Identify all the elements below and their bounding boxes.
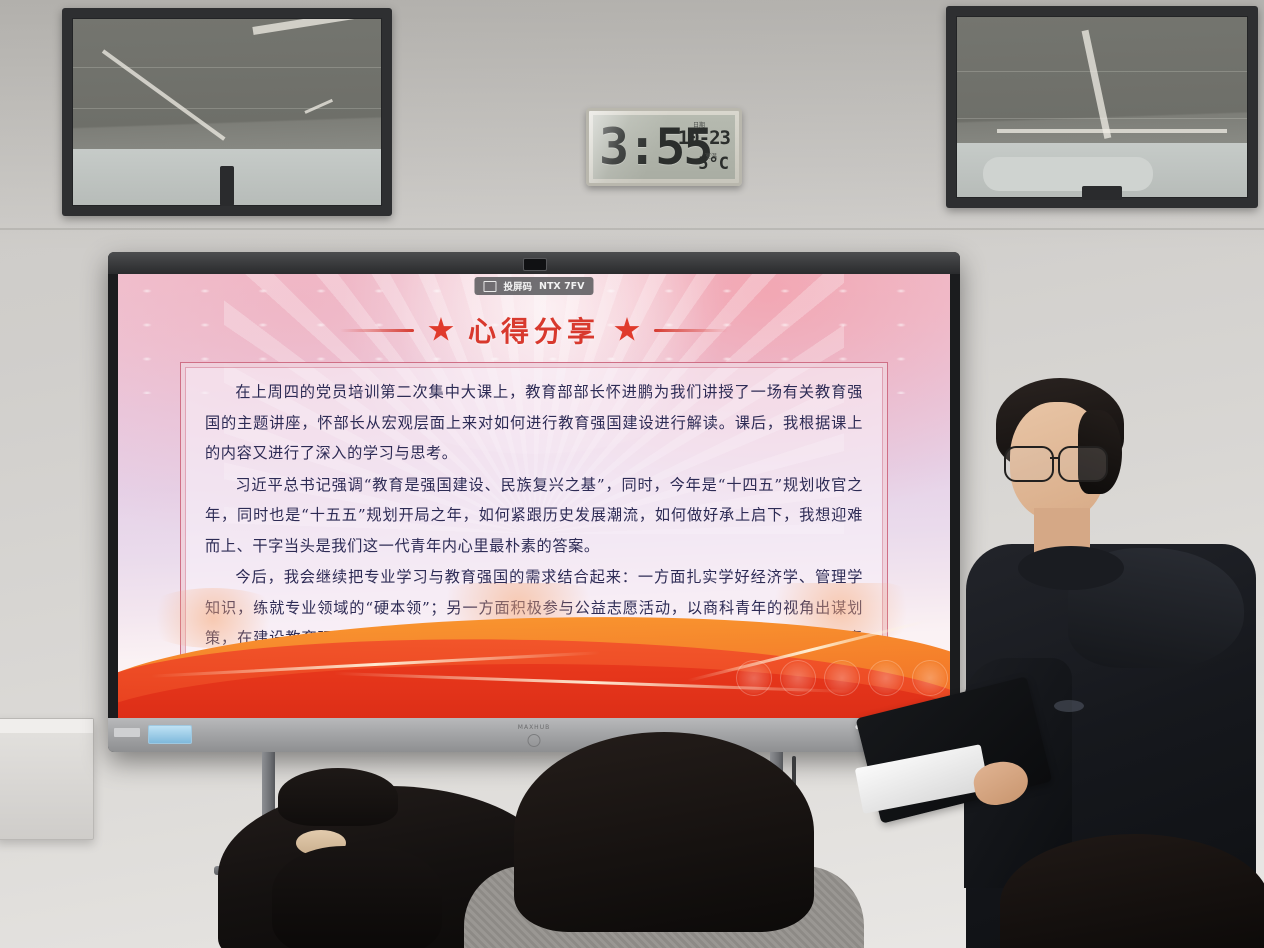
audience-member-right	[1000, 828, 1264, 948]
classroom-presentation-scene: 3:55 日期 10-23 室温 5°C 投屏码 NTX 7FV	[0, 0, 1264, 948]
screen-cast-overlay: 投屏码 NTX 7FV	[474, 277, 593, 295]
slide: 投屏码 NTX 7FV 心得分享 在上周四的党员培训第二次集中大课上，教育部部长…	[118, 274, 950, 718]
window-left-handle[interactable]	[220, 166, 234, 206]
display-brand: MAXHUB	[518, 724, 550, 731]
presenter-collar	[1018, 546, 1124, 590]
display-top-bezel	[108, 252, 960, 274]
clock-lcd: 3:55 日期 10-23 室温 5°C	[593, 115, 735, 179]
audience-member-center	[494, 738, 824, 948]
wall-clock: 3:55 日期 10-23 室温 5°C	[586, 108, 742, 186]
display-screen[interactable]: 投屏码 NTX 7FV 心得分享 在上周四的党员培训第二次集中大课上，教育部部长…	[118, 274, 950, 718]
bezel-sticker	[148, 725, 192, 744]
hoodie-logo	[1054, 700, 1084, 712]
screen-cast-code: NTX 7FV	[539, 281, 585, 292]
clock-date: 10-23	[678, 127, 730, 149]
slide-paragraph: 在上周四的党员培训第二次集中大课上，教育部部长怀进鹏为我们讲授了一场有关教育强国…	[205, 377, 863, 469]
title-rule-left	[340, 329, 414, 332]
slide-title-row: 心得分享	[118, 310, 950, 350]
wall-seam	[0, 228, 1264, 230]
title-rule-right	[654, 329, 728, 332]
window-left	[62, 8, 392, 216]
slide-title: 心得分享	[468, 310, 600, 350]
star-icon-left	[428, 317, 454, 343]
star-icon-right	[614, 317, 640, 343]
glasses-icon	[1002, 446, 1118, 480]
interactive-display[interactable]: 投屏码 NTX 7FV 心得分享 在上周四的党员培训第二次集中大课上，教育部部长…	[108, 252, 960, 752]
window-right-glass	[956, 16, 1248, 198]
side-cabinet	[0, 718, 94, 840]
slide-paragraph: 习近平总书记强调“教育是强国建设、民族复兴之基”，同时，今年是“十四五”规划收官…	[205, 470, 863, 562]
screen-cast-icon	[483, 281, 496, 292]
screen-cast-label: 投屏码	[503, 279, 532, 293]
window-right	[946, 6, 1258, 208]
slide-wave-decoration	[118, 583, 950, 718]
camera-icon	[523, 258, 547, 271]
bezel-label	[114, 728, 140, 737]
window-right-handle[interactable]	[1082, 186, 1122, 200]
clock-temperature: 5°C	[698, 154, 729, 174]
